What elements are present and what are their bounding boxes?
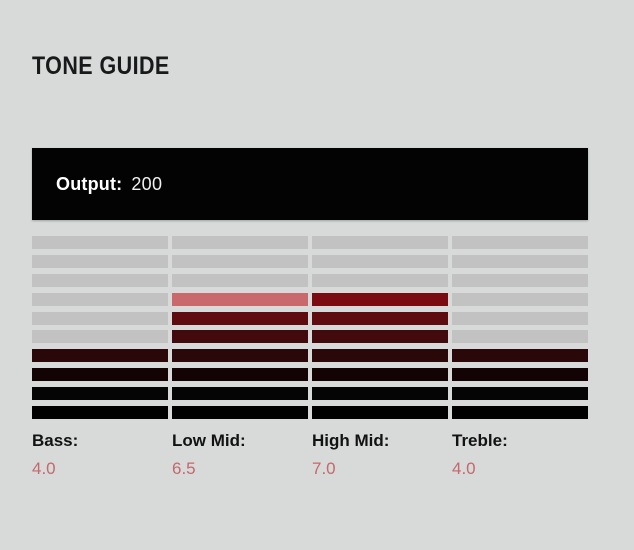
page-title: TONE GUIDE [32, 52, 170, 81]
eq-segment-lit[interactable] [172, 312, 308, 325]
eq-segment-unlit[interactable] [452, 236, 588, 249]
eq-segment-lit[interactable] [312, 330, 448, 343]
eq-label-group: Bass:4.0Low Mid:6.5High Mid:7.0Treble:4.… [32, 428, 588, 484]
eq-segment-unlit[interactable] [312, 236, 448, 249]
eq-segment-lit[interactable] [312, 368, 448, 381]
eq-segment-unlit[interactable] [172, 255, 308, 268]
eq-band-name: High Mid: [312, 428, 448, 454]
eq-segment-lit[interactable] [312, 349, 448, 362]
eq-segment-lit[interactable] [312, 293, 448, 306]
eq-segment-lit[interactable] [172, 406, 308, 419]
output-display: Output: 200 [32, 148, 588, 220]
eq-band-value: 7.0 [312, 454, 448, 484]
eq-segment-unlit[interactable] [452, 293, 588, 306]
eq-segment-unlit[interactable] [32, 236, 168, 249]
eq-segment-lit[interactable] [312, 406, 448, 419]
eq-segment-unlit[interactable] [172, 274, 308, 287]
eq-label-column: Treble:4.0 [452, 428, 588, 484]
eq-segment-unlit[interactable] [32, 293, 168, 306]
eq-segment-unlit[interactable] [452, 274, 588, 287]
eq-segment-lit[interactable] [32, 368, 168, 381]
eq-segment-unlit[interactable] [32, 274, 168, 287]
eq-segment-lit[interactable] [172, 368, 308, 381]
eq-column[interactable] [312, 236, 448, 419]
eq-segment-unlit[interactable] [32, 330, 168, 343]
eq-segment-lit[interactable] [452, 368, 588, 381]
eq-segment-unlit[interactable] [452, 330, 588, 343]
eq-segment-lit[interactable] [172, 330, 308, 343]
eq-band-value: 4.0 [32, 454, 168, 484]
eq-segment-lit[interactable] [32, 406, 168, 419]
eq-segment-lit[interactable] [172, 349, 308, 362]
eq-segment-unlit[interactable] [32, 255, 168, 268]
eq-segment-lit[interactable] [452, 349, 588, 362]
eq-band-name: Low Mid: [172, 428, 308, 454]
eq-segment-lit[interactable] [172, 387, 308, 400]
eq-segment-lit[interactable] [32, 387, 168, 400]
eq-segment-unlit[interactable] [452, 312, 588, 325]
eq-segment-lit[interactable] [312, 387, 448, 400]
output-label: Output: [56, 174, 122, 195]
eq-band-value: 6.5 [172, 454, 308, 484]
eq-segment-half-lit[interactable] [172, 293, 308, 306]
eq-band-value: 4.0 [452, 454, 588, 484]
eq-label-column: High Mid:7.0 [312, 428, 448, 484]
eq-segment-lit[interactable] [452, 387, 588, 400]
output-display-content: Output: 200 [56, 148, 162, 220]
eq-label-column: Low Mid:6.5 [172, 428, 308, 484]
tone-guide-panel: TONE GUIDE Output: 200 Bass:4.0Low Mid:6… [0, 0, 634, 550]
eq-segment-unlit[interactable] [172, 236, 308, 249]
eq-segment-unlit[interactable] [312, 274, 448, 287]
eq-segment-lit[interactable] [452, 406, 588, 419]
eq-column[interactable] [452, 236, 588, 419]
eq-meter-group [32, 236, 588, 419]
eq-column[interactable] [172, 236, 308, 419]
output-value: 200 [131, 174, 162, 195]
eq-segment-unlit[interactable] [32, 312, 168, 325]
eq-segment-unlit[interactable] [312, 255, 448, 268]
eq-segment-lit[interactable] [32, 349, 168, 362]
eq-column[interactable] [32, 236, 168, 419]
eq-label-column: Bass:4.0 [32, 428, 168, 484]
eq-segment-unlit[interactable] [452, 255, 588, 268]
eq-band-name: Treble: [452, 428, 588, 454]
eq-segment-lit[interactable] [312, 312, 448, 325]
eq-band-name: Bass: [32, 428, 168, 454]
